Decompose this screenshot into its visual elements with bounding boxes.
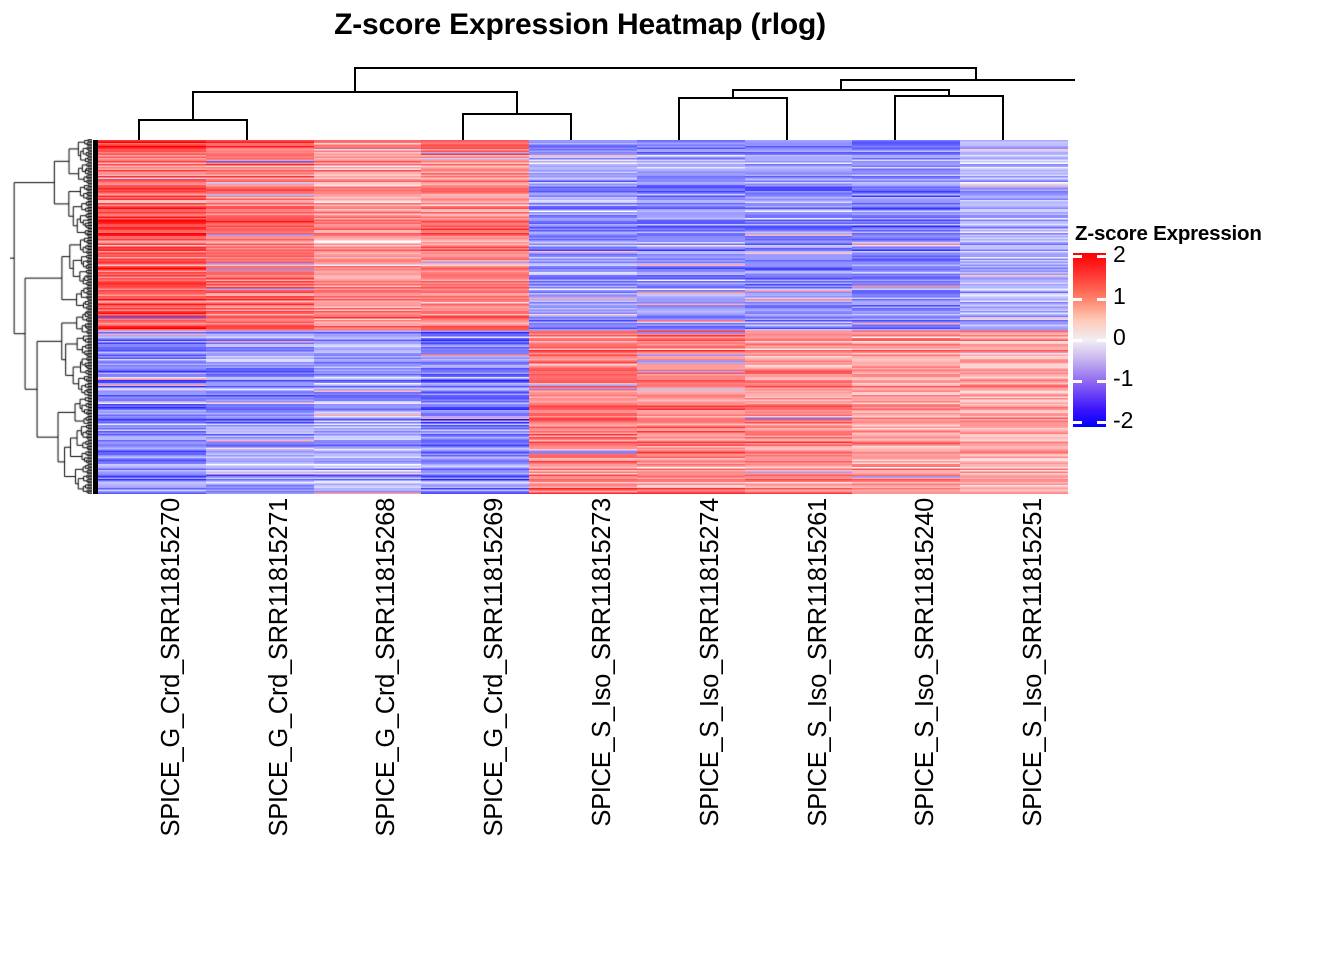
heatmap-column (421, 140, 529, 494)
column-label: SPICE_S_Iso_SRR11815240 (911, 498, 940, 827)
legend-tick-label: -2 (1113, 409, 1133, 432)
column-label: SPICE_G_Crd_SRR11815268 (372, 498, 401, 837)
legend-tick-mark (1073, 339, 1082, 342)
legend-tick-mark (1073, 298, 1082, 301)
legend-tick-mark (1073, 380, 1082, 383)
heatmap-column-canvas (852, 140, 960, 494)
legend-tick-mark (1073, 255, 1082, 258)
column-labels: SPICE_G_Crd_SRR11815270SPICE_G_Crd_SRR11… (93, 498, 1063, 948)
page-title: Z-score Expression Heatmap (rlog) (0, 8, 1160, 42)
legend-tick-mark (1097, 421, 1106, 424)
column-label: SPICE_S_Iso_SRR11815273 (588, 498, 617, 827)
row-dendrogram-canvas (10, 139, 92, 494)
heatmap-column (745, 140, 853, 494)
heatmap-column (852, 140, 960, 494)
legend-tick-label: 0 (1113, 326, 1126, 349)
heatmap-column (637, 140, 745, 494)
heatmap-column-canvas (206, 140, 314, 494)
heatmap-column-canvas (98, 140, 206, 494)
legend-tick-mark (1073, 421, 1082, 424)
legend-tick-mark (1097, 380, 1106, 383)
heatmap-column (206, 140, 314, 494)
row-dendrogram (10, 139, 92, 494)
column-label: SPICE_G_Crd_SRR11815269 (480, 498, 509, 837)
heatmap-column-canvas (637, 140, 745, 494)
heatmap-column (960, 140, 1068, 494)
legend-tick-mark (1097, 339, 1106, 342)
heatmap-column (529, 140, 637, 494)
column-label: SPICE_S_Iso_SRR11815251 (1019, 498, 1048, 827)
column-label: SPICE_G_Crd_SRR11815270 (157, 498, 186, 837)
column-dendrogram-svg (85, 52, 1075, 142)
heatmap-figure: Z-score Expression Heatmap (rlog) (0, 0, 1344, 960)
column-label: SPICE_G_Crd_SRR11815271 (265, 498, 294, 837)
legend-title: Z-score Expression (1075, 222, 1262, 246)
legend-tick-label: 2 (1113, 243, 1126, 266)
column-label: SPICE_S_Iso_SRR11815274 (696, 498, 725, 827)
heatmap-column-canvas (529, 140, 637, 494)
legend-tick-mark (1097, 298, 1106, 301)
heatmap-column-canvas (960, 140, 1068, 494)
legend-tick-label: -1 (1113, 367, 1133, 390)
legend-colorbar (1073, 253, 1106, 427)
column-dendrogram (85, 52, 1075, 142)
legend-tick-mark (1097, 255, 1106, 258)
column-label: SPICE_S_Iso_SRR11815261 (804, 498, 833, 827)
legend-tick-label: 1 (1113, 285, 1126, 308)
heatmap-column-canvas (314, 140, 422, 494)
heatmap-column (98, 140, 206, 494)
heatmap-grid (93, 140, 1068, 494)
heatmap-column-canvas (745, 140, 853, 494)
heatmap-column (314, 140, 422, 494)
heatmap-column-canvas (421, 140, 529, 494)
